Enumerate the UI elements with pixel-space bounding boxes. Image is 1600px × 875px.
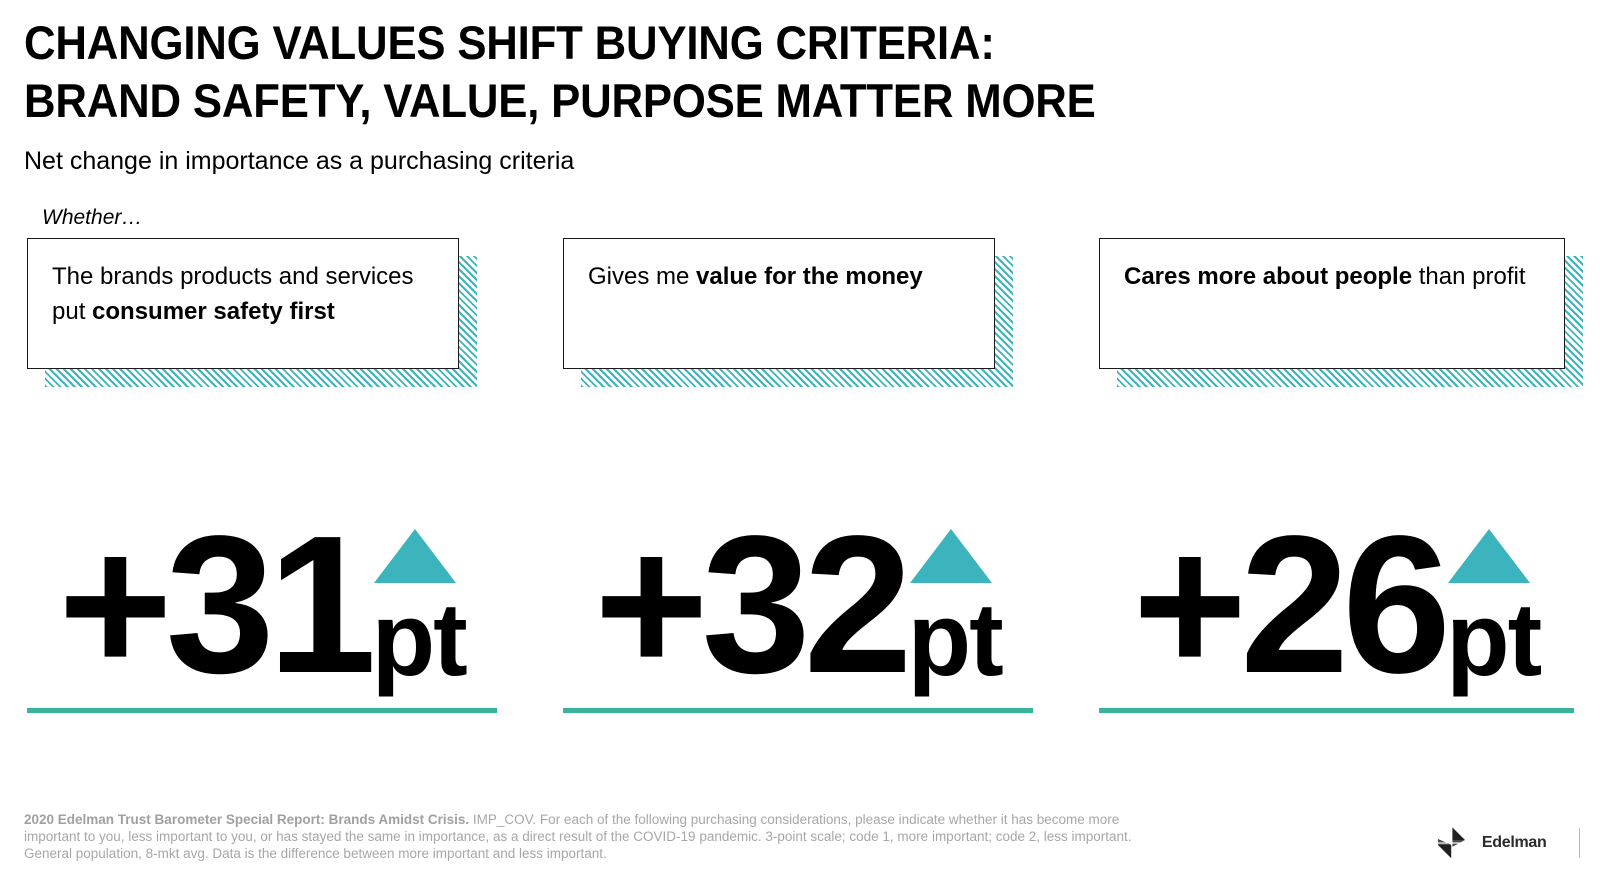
statement-card-1: The brands products and services put con… [27,238,459,388]
stat-column-2: Gives me value for the money + 32 pt [563,0,1033,875]
logo-divider [1579,828,1581,858]
stat-unit: pt [908,599,1002,682]
triangle-up-icon [910,529,992,583]
triangle-up-icon [374,529,456,583]
stat-underline-rule [1099,708,1574,713]
statement-emphasis: value for the money [696,263,923,290]
stat-row: + 31 pt [27,529,497,682]
stat-row: + 32 pt [563,529,1033,682]
stat-underline-rule [563,708,1033,713]
stat-row: + 26 pt [1099,529,1574,682]
stat-column-1: The brands products and services put con… [27,0,497,875]
statement-emphasis: Cares more about people [1124,263,1412,290]
statement-text-2: Gives me value for the money [588,259,980,294]
stat-sign: + [58,529,165,682]
stat-sign: + [1133,529,1240,682]
stat-unit-wrap: pt [372,599,466,682]
stat-underline-rule [27,708,497,713]
statement-card-3: Cares more about people than profit [1099,238,1565,388]
card-box: Gives me value for the money [563,238,995,369]
stat-unit-wrap: pt [908,599,1002,682]
statement-prefix: Gives me [588,263,696,290]
stat-value-1: + 31 pt [27,466,497,716]
card-box: The brands products and services put con… [27,238,459,369]
stat-number: 31 [166,529,370,682]
statement-card-2: Gives me value for the money [563,238,995,388]
statement-emphasis: consumer safety first [92,298,335,325]
stat-unit: pt [372,599,466,682]
footnote: 2020 Edelman Trust Barometer Special Rep… [24,811,1144,862]
card-box: Cares more about people than profit [1099,238,1565,369]
stat-unit-wrap: pt [1446,599,1540,682]
edelman-pinwheel-icon [1432,823,1472,863]
statement-suffix: than profit [1412,263,1525,290]
stat-unit: pt [1446,599,1540,682]
stat-column-3: Cares more about people than profit + 26… [1099,0,1579,875]
edelman-wordmark: Edelman [1482,834,1547,852]
stat-value-3: + 26 pt [1099,466,1574,716]
stat-value-2: + 32 pt [563,466,1033,716]
edelman-logo: Edelman [1432,823,1580,863]
triangle-up-icon [1448,529,1530,583]
stat-number: 32 [702,529,906,682]
stat-number: 26 [1240,529,1444,682]
stat-sign: + [594,529,701,682]
statement-text-3: Cares more about people than profit [1124,259,1550,294]
footnote-source: 2020 Edelman Trust Barometer Special Rep… [24,812,469,827]
statement-text-1: The brands products and services put con… [52,259,444,329]
